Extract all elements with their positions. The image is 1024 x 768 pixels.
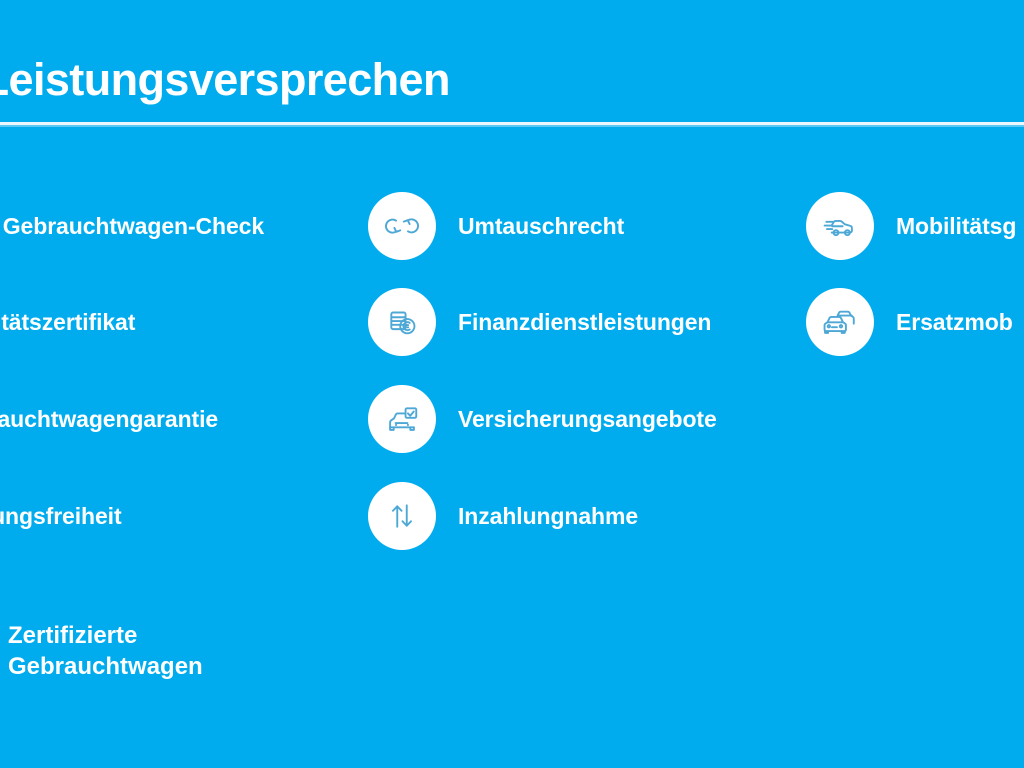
brand-label: Zertifizierte Gebrauchtwagen — [8, 620, 203, 682]
benefit-label: Ersatzmob — [896, 309, 1013, 336]
column-middle: Umtauschrecht Finanzdienstleistungen — [368, 128, 798, 568]
list-item[interactable]: Ersatzmob — [806, 288, 1013, 356]
list-item[interactable]: Inzahlungnahme — [368, 482, 638, 550]
page-title: ere Leistungsversprechen — [0, 52, 450, 108]
two-cars-icon — [806, 288, 874, 356]
benefit-label: 60° Gebrauchtwagen-Check — [0, 213, 264, 240]
column-left: 60° Gebrauchtwagen-Check ualitätszertifi… — [0, 128, 360, 568]
benefit-label: ualitätszertifikat — [0, 309, 135, 336]
list-item[interactable]: ebrauchtwagengarantie — [0, 385, 218, 453]
up-down-arrows-icon — [368, 482, 436, 550]
list-item[interactable]: Umtauschrecht — [368, 192, 624, 260]
car-checkmark-icon — [368, 385, 436, 453]
header-divider — [0, 122, 1024, 125]
brand-line-2: Gebrauchtwagen — [8, 653, 203, 680]
list-item[interactable]: Versicherungsangebote — [368, 385, 717, 453]
list-item[interactable]: 60° Gebrauchtwagen-Check — [0, 192, 264, 260]
exchange-arrows-icon — [368, 192, 436, 260]
benefit-label: ebrauchtwagengarantie — [0, 406, 218, 433]
slide-header: ere Leistungsversprechen — [0, 0, 1024, 128]
coins-euro-icon — [368, 288, 436, 356]
brand-block: Zertifizierte Gebrauchtwagen — [0, 620, 360, 682]
slide-canvas: ere Leistungsversprechen 60° Gebrauchtwa… — [0, 0, 1024, 768]
column-right: Mobilitätsg Ersatzmob — [806, 128, 1024, 568]
benefit-label: Versicherungsangebote — [458, 406, 717, 433]
benefit-label: Finanzdienstleistungen — [458, 309, 711, 336]
list-item[interactable]: Finanzdienstleistungen — [368, 288, 711, 356]
benefit-label: Inzahlungnahme — [458, 503, 638, 530]
benefit-label: Mobilitätsg — [896, 213, 1016, 240]
car-motion-icon — [806, 192, 874, 260]
list-item[interactable]: ualitätszertifikat — [0, 288, 135, 356]
list-item[interactable]: artungsfreiheit — [0, 482, 122, 550]
benefit-label: artungsfreiheit — [0, 503, 122, 530]
benefit-label: Umtauschrecht — [458, 213, 624, 240]
list-item[interactable]: Mobilitätsg — [806, 192, 1016, 260]
brand-line-1: Zertifizierte — [8, 622, 137, 649]
